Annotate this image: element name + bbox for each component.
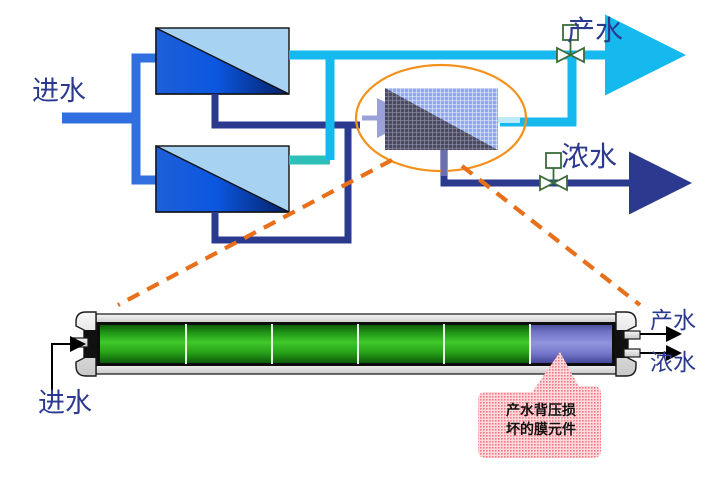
vessel-end-cap-left — [72, 312, 97, 376]
callout-bubble — [478, 386, 601, 458]
feed-inlet-arrow-bottom — [52, 344, 72, 400]
feed-piping-group — [62, 58, 160, 180]
concentrate-valve-left-body — [540, 176, 554, 190]
zoom-leader-right — [462, 166, 640, 305]
diagram-canvas: 进水 产水 浓水 进水 产水 浓水 产水背压损 坏的膜元件 — [0, 0, 723, 481]
diagram-graphics — [0, 0, 723, 481]
membrane-elements-healthy — [100, 325, 530, 363]
pressure-vessel-lower — [156, 146, 289, 212]
membrane-element-detail — [356, 65, 526, 176]
concentrate-from-upper-vessel — [215, 94, 360, 125]
concentrate-valve-right-body — [554, 176, 568, 190]
vessel-right-concentrate-port — [624, 349, 640, 357]
vessel-right-permeate-port — [624, 331, 640, 339]
vessel-left-feed-port — [72, 338, 88, 347]
concentrate-outlet-line — [444, 148, 600, 183]
concentrate-valve-actuator — [546, 153, 561, 168]
vessel-end-cap-right — [615, 312, 640, 376]
permeate-valve-actuator — [563, 25, 578, 40]
membrane-element-damaged — [530, 325, 612, 363]
pressure-vessel-upper — [156, 28, 289, 94]
